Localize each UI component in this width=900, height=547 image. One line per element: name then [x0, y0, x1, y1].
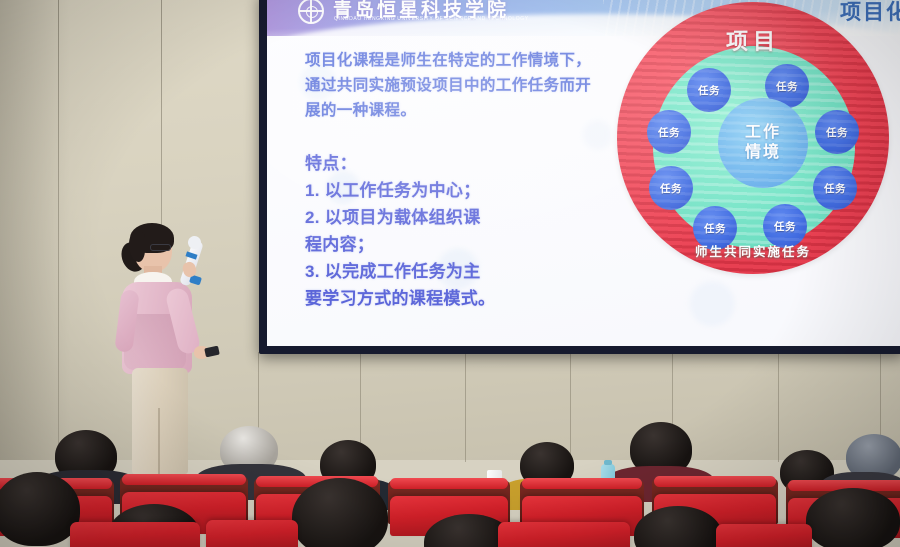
feature-item: 程内容；	[305, 231, 575, 258]
task-circle: 任务	[687, 68, 731, 112]
presenter-glasses	[150, 244, 171, 251]
wall-seam	[58, 0, 59, 460]
task-label: 任务	[826, 125, 848, 140]
seat-top-cushion	[522, 478, 642, 489]
task-label: 任务	[824, 181, 846, 196]
task-circle: 任务	[813, 166, 857, 210]
wall-shadow	[0, 0, 70, 460]
seat-front	[70, 522, 200, 547]
presentation-clicker	[204, 346, 220, 358]
task-label: 任务	[698, 83, 720, 98]
feature-item: 2. 以项目为载体组织课	[305, 204, 575, 231]
compass-emblem-icon	[298, 0, 324, 24]
seat-top-cushion	[654, 476, 776, 487]
task-label: 任务	[660, 181, 682, 196]
task-label: 任务	[774, 219, 796, 234]
presenter-hair-side	[129, 232, 145, 262]
task-label: 任务	[658, 125, 680, 140]
task-circle: 任务	[647, 110, 691, 154]
slide-feature-list: 特点： 1. 以工作任务为中心； 2. 以项目为载体组织课 程内容； 3. 以完…	[305, 150, 575, 312]
project-course-diagram: 项目 任务 任务 任务 任务 任务 任务 任务 任务	[617, 2, 889, 274]
slide-paragraph: 项目化课程是师生在特定的工作情境下，通过共同实施预设项目中的工作任务而开展的一种…	[305, 48, 605, 123]
task-label: 任务	[776, 79, 798, 94]
work-context-core: 工作情境	[718, 98, 808, 188]
diagram-bottom-label: 师生共同实施任务	[617, 241, 889, 260]
diagram-outer-label: 项目	[617, 24, 889, 56]
feature-item: 3. 以完成工作任务为主	[305, 258, 575, 285]
compass-emblem-inner-icon	[306, 6, 318, 18]
water-bottle-cap	[604, 460, 612, 465]
lecture-hall-photo: 青岛恒星科技学院 QINGDAO HENGXING UNIVERSITY OF …	[0, 0, 900, 547]
university-name-en: QINGDAO HENGXING UNIVERSITY OF SCIENCE A…	[334, 16, 529, 22]
projection-screen: 青岛恒星科技学院 QINGDAO HENGXING UNIVERSITY OF …	[267, 0, 900, 346]
feature-heading: 特点：	[305, 150, 575, 177]
audience-head-front	[0, 472, 80, 546]
audience-head-front	[292, 478, 388, 547]
task-circle: 任务	[649, 166, 693, 210]
core-label: 工作情境	[745, 123, 781, 163]
task-circle: 任务	[815, 110, 859, 154]
seat-top-cushion	[122, 474, 246, 485]
core-line-2: 情境	[745, 144, 781, 161]
audience-seating	[0, 418, 900, 547]
feature-item: 要学习方式的课程模式。	[305, 285, 575, 312]
core-line-1: 工作	[745, 124, 781, 141]
seat-front	[716, 524, 812, 547]
feature-item: 1. 以工作任务为中心；	[305, 177, 575, 204]
seat-top-cushion	[390, 478, 508, 489]
seat-front	[498, 522, 630, 547]
audience-head-front	[806, 488, 900, 547]
task-label: 任务	[704, 221, 726, 236]
seat-front	[206, 520, 298, 547]
